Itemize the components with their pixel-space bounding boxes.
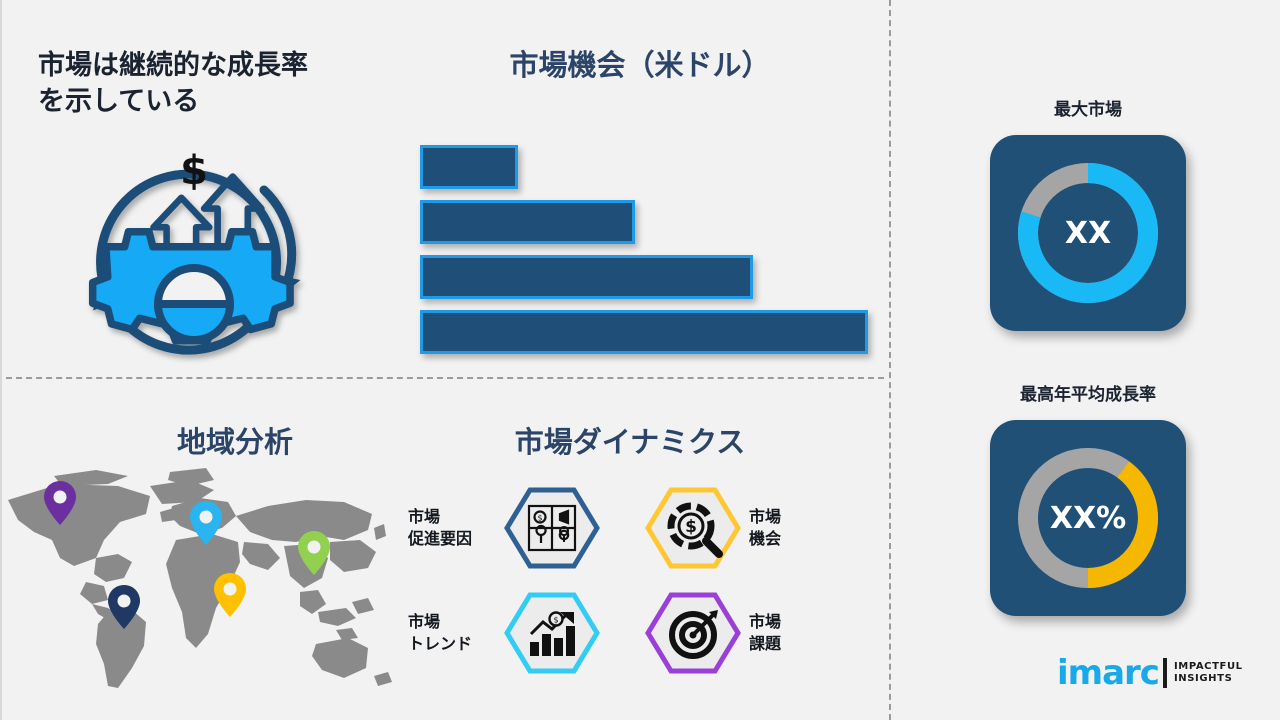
largest-market-tile: XX <box>990 135 1186 331</box>
hexagon-drivers: $ <box>504 487 600 569</box>
bar-row <box>420 200 880 244</box>
bar-1 <box>420 145 518 189</box>
dynamics-item-opportunities[interactable]: $ 市場 機会 <box>645 487 781 569</box>
dynamics-label-drivers: 市場 促進要因 <box>408 506 500 549</box>
growth-panel-title: 市場は継続的な成長率 を示している <box>38 48 388 121</box>
pin-south-america <box>106 584 142 630</box>
growth-gear-cycle-illustration: $ <box>68 128 320 368</box>
svg-text:$: $ <box>537 514 542 523</box>
pin-north-america <box>42 480 78 526</box>
bar-3 <box>420 255 753 299</box>
dynamics-item-trends[interactable]: 市場 トレンド $ <box>408 592 600 674</box>
dynamics-item-drivers[interactable]: 市場 促進要因 $ <box>408 487 600 569</box>
dynamics-panel-title: 市場ダイナミクス <box>440 425 820 460</box>
regional-panel-title: 地域分析 <box>110 425 360 460</box>
hexagon-trends: $ <box>504 592 600 674</box>
bar-row <box>420 145 880 189</box>
largest-market-title: 最大市場 <box>963 95 1213 120</box>
logo-divider-bar <box>1163 658 1167 688</box>
slide-canvas: 市場は継続的な成長率 を示している <box>0 0 1280 720</box>
vertical-divider <box>889 0 891 720</box>
market-opportunity-bar-chart <box>420 145 880 350</box>
bar-4 <box>420 310 868 354</box>
logo-tagline: IMPACTFUL INSIGHTS <box>1174 661 1243 686</box>
dynamics-label-trends: 市場 トレンド <box>408 611 500 654</box>
dynamics-item-challenges[interactable]: 市場 課題 <box>645 592 781 674</box>
pin-europe <box>188 500 224 546</box>
dynamics-label-opportunities: 市場 機会 <box>749 506 781 549</box>
svg-text:$: $ <box>685 517 697 537</box>
highest-cagr-title: 最高年平均成長率 <box>963 380 1213 405</box>
pin-africa-middle-east <box>212 572 248 618</box>
pin-east-asia <box>296 530 332 576</box>
bar-row <box>420 255 880 299</box>
opportunity-panel-title: 市場機会（米ドル） <box>420 48 860 83</box>
horizontal-divider <box>6 377 884 379</box>
dollar-symbol: $ <box>180 148 208 194</box>
svg-text:$: $ <box>553 616 558 625</box>
dynamics-label-challenges: 市場 課題 <box>749 611 781 654</box>
highest-cagr-donut <box>1008 438 1168 598</box>
world-map <box>0 462 400 702</box>
bar-row <box>420 310 880 354</box>
hexagon-opportunities: $ <box>645 487 741 569</box>
logo-wordmark: imarc <box>1057 656 1159 690</box>
imarc-logo: imarc IMPACTFUL INSIGHTS <box>1057 656 1243 690</box>
highest-cagr-tile: XX% <box>990 420 1186 616</box>
bar-2 <box>420 200 635 244</box>
largest-market-donut <box>1008 153 1168 313</box>
hexagon-challenges <box>645 592 741 674</box>
